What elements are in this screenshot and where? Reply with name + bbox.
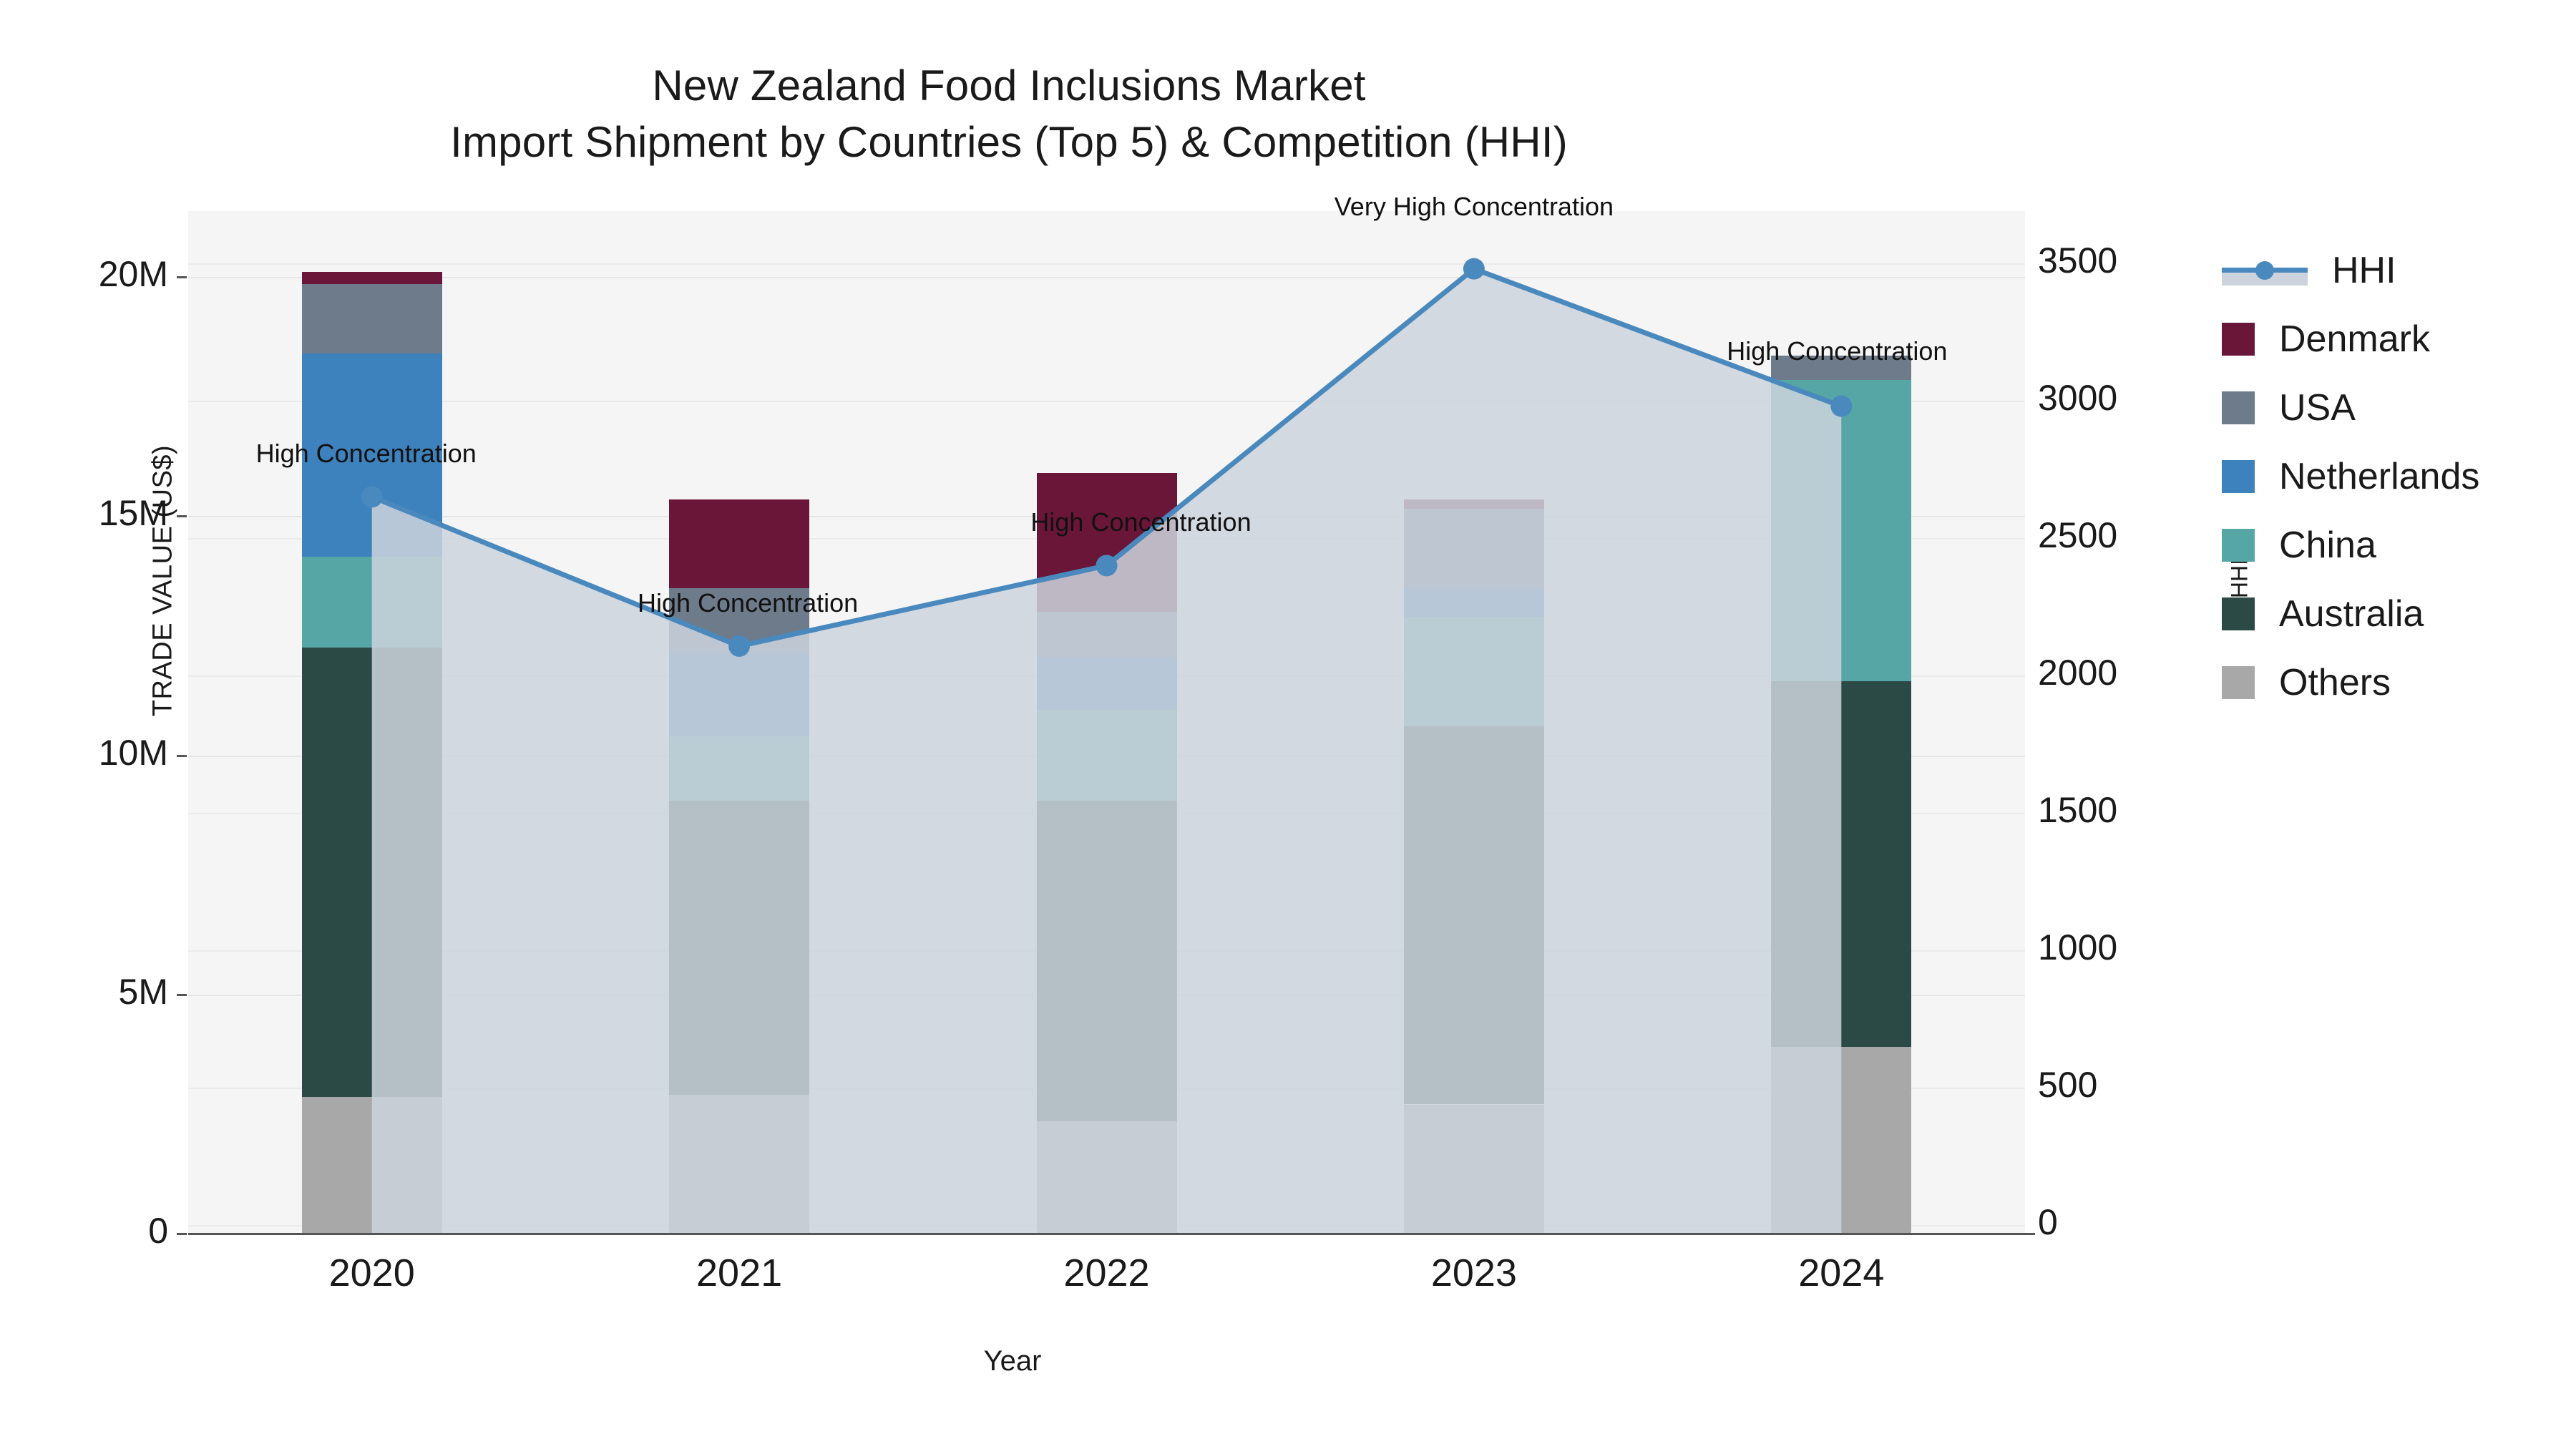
chart-title-line-1: New Zealand Food Inclusions Market [0,57,2018,114]
y-tick-mark-right-zero [2025,1233,2035,1235]
legend-label: Denmark [2279,318,2430,361]
legend-dot [2255,261,2274,280]
legend-line-marker-icon [2222,254,2308,287]
bar-segment-others-2021 [669,1095,809,1234]
gridline [188,263,2025,265]
x-tick-2023: 2023 [1367,1251,1581,1295]
legend-swatch-australia-icon [2222,597,2255,630]
y-tick-right-1000: 1000 [2038,927,2117,968]
bar-segment-china-2023 [1404,617,1544,727]
bar-segment-australia-2020 [302,648,442,1097]
bar-segment-netherlands-2021 [669,653,809,736]
bar-segment-china-2021 [669,736,809,801]
y-axis-left-label: TRADE VALUE (US$) [148,381,179,781]
bar-segment-australia-2022 [1037,801,1177,1121]
legend-label: Australia [2279,592,2424,635]
legend-label: USA [2279,386,2356,429]
bar-segment-denmark-2021 [669,499,809,588]
y-tick-right-3000: 3000 [2038,377,2117,419]
annotation-2022: High Concentration [1030,507,1251,537]
y-tick-left-10M: 10M [0,732,168,774]
bar-segment-australia-2024 [1771,681,1911,1047]
bar-segment-australia-2023 [1404,726,1544,1104]
chart-title-line-2: Import Shipment by Countries (Top 5) & C… [0,114,2018,170]
y-tick-left-0: 0 [0,1210,168,1252]
bar-segment-china-2024 [1771,380,1911,681]
x-tick-2021: 2021 [632,1251,847,1295]
legend-swatch-denmark-icon [2222,323,2255,356]
y-tick-mark-left [177,1233,187,1235]
bar-segment-denmark-2020 [302,272,442,284]
y-tick-right-0: 0 [2038,1201,2058,1243]
y-tick-left-20M: 20M [0,253,168,295]
legend-item-australia[interactable]: Australia [2222,580,2479,648]
legend-item-others[interactable]: Others [2222,648,2479,717]
legend-swatch-china-icon [2222,529,2255,562]
bar-segment-others-2020 [302,1097,442,1234]
y-tick-left-15M: 15M [0,492,168,534]
bar-segment-usa-2022 [1037,612,1177,658]
chart-title: New Zealand Food Inclusions Market Impor… [0,57,2018,170]
x-axis-spine [188,1233,2025,1235]
y-tick-right-1500: 1500 [2038,789,2117,831]
legend-swatch-others-icon [2222,666,2255,699]
legend-item-netherlands[interactable]: Netherlands [2222,442,2479,511]
bar-segment-china-2022 [1037,710,1177,801]
gridline [188,401,2025,402]
bar-segment-netherlands-2022 [1037,657,1177,710]
x-tick-2022: 2022 [1000,1251,1214,1295]
legend-item-china[interactable]: China [2222,511,2479,580]
legend-label: Others [2279,661,2391,704]
y-tick-right-2500: 2500 [2038,514,2117,556]
x-axis-label: Year [0,1345,2025,1377]
legend-label: Netherlands [2279,455,2479,498]
x-tick-2020: 2020 [265,1251,479,1295]
annotation-2021: High Concentration [638,588,858,618]
bar-segment-australia-2021 [669,801,809,1095]
legend-label: HHI [2332,249,2396,292]
y-tick-left-5M: 5M [0,971,168,1013]
annotation-2023: Very High Concentration [1335,192,1614,222]
bar-segment-others-2023 [1404,1105,1544,1234]
legend-item-hhi[interactable]: HHI [2222,236,2479,305]
y-tick-right-2000: 2000 [2038,652,2117,693]
bar-segment-china-2020 [302,557,442,648]
y-tick-right-3500: 3500 [2038,240,2117,281]
y-tick-right-500: 500 [2038,1064,2097,1106]
bar-segment-denmark-2022 [1037,473,1177,612]
bar-segment-denmark-2023 [1404,499,1544,509]
bar-segment-others-2022 [1037,1121,1177,1234]
legend-item-usa[interactable]: USA [2222,374,2479,442]
chart-canvas: New Zealand Food Inclusions Market Impor… [0,0,2576,1449]
bar-segment-others-2024 [1771,1047,1911,1234]
legend-label: China [2279,524,2376,567]
legend-swatch-usa-icon [2222,391,2255,424]
x-tick-2024: 2024 [1734,1251,1948,1295]
bar-segment-usa-2023 [1404,509,1544,587]
annotation-2024: High Concentration [1727,336,1947,366]
annotation-2020: High Concentration [256,439,477,469]
gridline-major [188,277,2025,278]
bar-segment-usa-2020 [302,284,442,353]
y-tick-mark-left [177,276,187,278]
legend: HHIDenmarkUSANetherlandsChinaAustraliaOt… [2222,236,2479,717]
legend-swatch-netherlands-icon [2222,460,2255,493]
bar-segment-netherlands-2023 [1404,588,1544,617]
legend-item-denmark[interactable]: Denmark [2222,305,2479,374]
y-tick-mark-left [177,994,187,996]
